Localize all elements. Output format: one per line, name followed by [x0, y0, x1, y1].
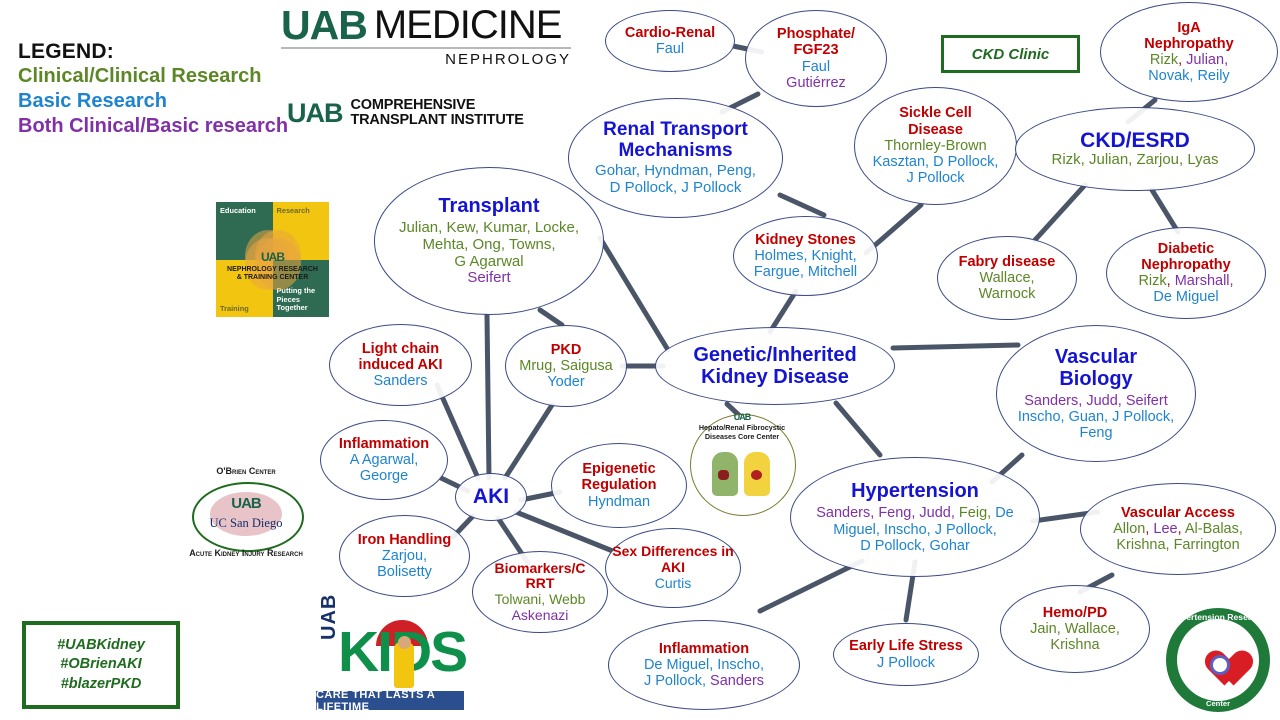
node-title: AKI	[473, 485, 509, 509]
node-names-line2: George	[360, 468, 408, 484]
nrtc-training-label: Training	[220, 304, 249, 313]
node-diabetic-nephropathy[interactable]: Diabetic Nephropathy Rizk, Marshall, De …	[1106, 227, 1266, 319]
node-names-line2: Inscho, Guan, J Pollock,	[1018, 409, 1174, 425]
node-epigenetic-regulation[interactable]: Epigenetic Regulation Hyndman	[551, 443, 687, 528]
node-light-chain-induced-aki[interactable]: Light chain induced AKI Sanders	[329, 324, 472, 406]
girl-head-icon	[398, 636, 411, 649]
node-names-line1: Thornley-Brown	[884, 138, 986, 154]
uab-mark-icon: UAB	[686, 412, 798, 422]
edge-genetic-hypertension	[836, 403, 880, 455]
edge-hypertension-inflammationht	[760, 561, 862, 611]
edge-ckdesrd-diabetic	[1152, 190, 1178, 232]
node-names-line2: Fargue, Mitchell	[754, 264, 857, 280]
node-title-line1: Vascular	[1055, 346, 1137, 368]
node-name-faul: Faul	[802, 59, 830, 75]
nrtc-education-label: Education	[220, 206, 256, 215]
hrfd-arc-text: Hepato/Renal Fibrocystic Diseases Core C…	[686, 423, 798, 441]
uab-mark-icon: UAB	[281, 6, 367, 44]
node-inflammation-aki[interactable]: Inflammation A Agarwal, George	[320, 420, 448, 500]
node-title-line1: Genetic/Inherited	[693, 344, 856, 366]
node-inflammation-hypertension[interactable]: Inflammation De Miguel, Inscho, J Polloc…	[608, 620, 800, 710]
nrtc-research-label: Research	[277, 206, 310, 215]
node-phosphate-fgf23[interactable]: Phosphate/ FGF23 Faul Gutiérrez	[745, 10, 887, 107]
edge-transplant-aki	[487, 315, 489, 478]
liver-icon	[718, 470, 729, 480]
legend-item-clinical: Clinical/Clinical Research	[18, 64, 288, 89]
node-names-line1: Gohar, Hyndman, Peng,	[595, 163, 756, 180]
uab-medicine-wordmark: MEDICINE	[374, 6, 562, 44]
uab-mark-icon: UAB	[261, 250, 284, 264]
obrien-arc-top: O'Brien Center	[186, 466, 306, 476]
node-title-line2: Nephropathy	[1141, 257, 1230, 273]
node-names-line3: Feng	[1079, 425, 1112, 441]
node-pkd[interactable]: PKD Mrug, Saigusa Yoder	[505, 325, 627, 407]
uab-mark-icon: UAB	[186, 495, 306, 512]
node-names-line1: Sanders, Feng, Judd, Feig, De	[816, 505, 1014, 521]
hashtags-box: #UABKidney #OBrienAKI #blazerPKD	[22, 621, 180, 709]
hashtag-uabkidney: #UABKidney	[57, 636, 145, 655]
node-title: Kidney Stones	[755, 232, 856, 248]
node-title-line2: RRT	[526, 576, 555, 592]
node-renal-transport-mechanisms[interactable]: Renal Transport Mechanisms Gohar, Hyndma…	[568, 98, 783, 218]
node-title-line1: IgA	[1177, 20, 1200, 36]
node-names-line2: Miguel, Inscho, J Pollock,	[833, 522, 997, 538]
node-title-line2: AKI	[661, 560, 685, 576]
node-iron-handling[interactable]: Iron Handling Zarjou, Bolisetty	[339, 515, 470, 597]
hepato-renal-fibrocystic-core-center-logo: UAB Hepato/Renal Fibrocystic Diseases Co…	[686, 406, 798, 518]
edge-transplant-pkd	[540, 310, 562, 325]
node-title: Transplant	[438, 195, 539, 217]
node-names-line2: Krishna	[1050, 637, 1099, 653]
node-title-line2: Mechanisms	[618, 140, 732, 161]
node-title: Vascular Access	[1121, 505, 1235, 521]
node-title-line1: Sickle Cell	[899, 105, 972, 121]
node-names-line1: Wallace,	[979, 270, 1034, 286]
node-sickle-cell-disease[interactable]: Sickle Cell Disease Thornley-Brown Kaszt…	[854, 87, 1017, 205]
node-names-line1: Rizk, Marshall,	[1138, 273, 1233, 289]
node-names-line3: G Agarwal	[454, 254, 523, 271]
node-title-line1: Epigenetic	[582, 461, 655, 477]
concept-map-canvas: LEGEND: Clinical/Clinical Research Basic…	[0, 0, 1280, 720]
node-names: Hyndman	[588, 494, 650, 510]
edge-kidneystones-genetic	[770, 291, 796, 332]
node-title-line1: Biomarkers/C	[494, 561, 585, 577]
edge-ckdesrd-fabry	[1035, 185, 1085, 240]
obrien-arc-bottom: Acute Kidney Injury Research	[186, 548, 306, 558]
node-names-line1: Julian, Kew, Kumar, Locke,	[399, 220, 579, 237]
hrc-top-text: Hypertension Research	[1166, 612, 1270, 622]
node-names-line2: Krishna, Farrington	[1116, 537, 1239, 553]
node-title-line2: FGF23	[793, 42, 838, 58]
node-names-line2: Novak, Reily	[1148, 68, 1229, 84]
node-title-line2: Kidney Disease	[701, 366, 849, 388]
ckd-clinic-label: CKD Clinic	[972, 46, 1050, 63]
node-names-line4: Seifert	[467, 270, 510, 287]
node-title: Hemo/PD	[1043, 605, 1107, 621]
node-names-line1: Holmes, Knight,	[754, 248, 856, 264]
node-names-line3: J Pollock	[906, 170, 964, 186]
node-names-line1: A Agarwal,	[350, 452, 419, 468]
node-names-line1: Tolwani, Webb	[495, 592, 586, 608]
uab-transplant-institute-logo: UAB COMPREHENSIVE TRANSPLANT INSTITUTE	[287, 98, 524, 128]
node-names-line1: De Miguel, Inscho,	[644, 657, 764, 673]
node-hemo-pd[interactable]: Hemo/PD Jain, Wallace, Krishna	[1000, 585, 1150, 673]
legend-item-basic: Basic Research	[18, 89, 288, 114]
ucsd-label: UC San Diego	[186, 516, 306, 531]
kids-tagline: CARE THAT LASTS A LIFETIME	[316, 691, 464, 710]
node-title-line1: Phosphate/	[777, 26, 855, 42]
node-sex-differences-in-aki[interactable]: Sex Differences in AKI Curtis	[605, 528, 741, 608]
node-fabry-disease[interactable]: Fabry disease Wallace, Warnock	[937, 236, 1077, 320]
node-cardio-renal[interactable]: Cardio-Renal Faul	[605, 10, 735, 72]
ckd-clinic-box: CKD Clinic	[941, 35, 1080, 73]
node-names-line1: Rizk, Julian,	[1150, 52, 1228, 68]
node-names-line1: Sanders, Judd, Seifert	[1024, 393, 1167, 409]
edge-renaltransport-kidneystones	[780, 195, 824, 215]
legend-item-both: Both Clinical/Basic research	[18, 114, 288, 139]
legend-heading: LEGEND:	[18, 40, 288, 64]
node-title: Cardio-Renal	[625, 25, 715, 41]
node-names-line1: Mrug, Saigusa	[519, 358, 613, 374]
node-names-line2: Warnock	[979, 286, 1036, 302]
node-names-line2: Yoder	[547, 374, 584, 390]
node-genetic-inherited-kidney-disease[interactable]: Genetic/Inherited Kidney Disease	[655, 327, 895, 405]
cti-line2: TRANSPLANT INSTITUTE	[351, 112, 524, 128]
node-title-line1: Light chain	[362, 341, 439, 357]
hashtag-obrienaki: #OBrienAKI	[60, 655, 141, 674]
nrtc-title1: NEPHROLOGY RESEARCH	[227, 266, 318, 273]
kidney-icon	[751, 470, 762, 480]
uab-mark-icon: UAB	[287, 101, 343, 126]
node-title-line2: Regulation	[582, 477, 657, 493]
node-names: Curtis	[655, 576, 692, 592]
node-title: CKD/ESRD	[1080, 129, 1190, 153]
node-title-line1: Renal Transport	[603, 119, 748, 140]
node-vascular-biology[interactable]: Vascular Biology Sanders, Judd, Seifert …	[996, 325, 1196, 462]
node-title: Inflammation	[659, 641, 749, 657]
node-names-line1: Jain, Wallace,	[1030, 621, 1120, 637]
node-title-line2: Nephropathy	[1144, 36, 1233, 52]
stethoscope-icon	[1210, 655, 1230, 675]
node-title-line2: induced AKI	[358, 357, 442, 373]
nrtc-tagline: Putting thePieces Together	[277, 287, 330, 313]
node-names-line2: Askenazi	[512, 608, 569, 624]
node-transplant[interactable]: Transplant Julian, Kew, Kumar, Locke, Me…	[374, 167, 604, 315]
cti-line1: COMPREHENSIVE	[351, 97, 476, 113]
node-kidney-stones[interactable]: Kidney Stones Holmes, Knight, Fargue, Mi…	[733, 216, 878, 296]
node-aki[interactable]: AKI	[455, 473, 527, 521]
uab-vertical-label: UAB	[318, 594, 341, 640]
node-names-line2: J Pollock, Sanders	[644, 673, 764, 689]
node-names-line2: De Miguel	[1153, 289, 1218, 305]
hypertension-research-center-logo: Hypertension Research Center	[1166, 608, 1270, 712]
node-iga-nephropathy[interactable]: IgA Nephropathy Rizk, Julian, Novak, Rei…	[1100, 2, 1278, 102]
node-names-line2: Bolisetty	[377, 564, 432, 580]
node-names-line1: Zarjou,	[382, 548, 427, 564]
node-title-line1: Diabetic	[1158, 241, 1214, 257]
hrc-bottom-text: Center	[1166, 699, 1270, 708]
node-title: Hypertension	[851, 480, 979, 502]
node-biomarkers-crrt[interactable]: Biomarkers/C RRT Tolwani, Webb Askenazi	[472, 551, 608, 633]
edge-genetic-vascular	[893, 345, 1018, 348]
node-title-line2: Disease	[908, 122, 963, 138]
node-title: Early Life Stress	[849, 638, 963, 654]
node-ckd-esrd[interactable]: CKD/ESRD Rizk, Julian, Zarjou, Lyas	[1015, 107, 1255, 191]
node-names: J Pollock	[877, 655, 935, 671]
node-title: Iron Handling	[358, 532, 451, 548]
uab-nephrology-label: NEPHROLOGY	[281, 51, 571, 68]
node-title: PKD	[551, 342, 582, 358]
edge-pkd-aki	[505, 405, 552, 478]
edge-transplant-genetic	[600, 238, 668, 350]
nephrology-research-training-center-logo: Education Research Training Putting theP…	[216, 202, 329, 317]
obrien-center-logo: O'Brien Center UAB UC San Diego Acute Ki…	[186, 464, 306, 568]
node-names-line3: D Pollock, Gohar	[860, 538, 970, 554]
node-title-line1: Sex Differences in	[612, 544, 733, 560]
node-hypertension[interactable]: Hypertension Sanders, Feng, Judd, Feig, …	[790, 457, 1040, 577]
node-title: Inflammation	[339, 436, 429, 452]
node-names-line2: Kasztan, D Pollock,	[873, 154, 999, 170]
node-early-life-stress[interactable]: Early Life Stress J Pollock	[833, 623, 979, 686]
node-names: Faul	[656, 41, 684, 57]
legend: LEGEND: Clinical/Clinical Research Basic…	[18, 40, 288, 138]
node-names-line2: Mehta, Ong, Towns,	[422, 237, 555, 254]
node-names: Sanders	[373, 373, 427, 389]
node-title-line2: Biology	[1059, 368, 1132, 390]
nrtc-title2: & TRAINING CENTER	[237, 274, 309, 281]
node-name-gutierrez: Gutiérrez	[786, 75, 846, 91]
node-vascular-access[interactable]: Vascular Access Allon, Lee, Al-Balas, Kr…	[1080, 483, 1276, 575]
node-names-line1: Allon, Lee, Al-Balas,	[1113, 521, 1243, 537]
node-names: Rizk, Julian, Zarjou, Lyas	[1051, 152, 1218, 169]
node-names-line2: D Pollock, J Pollock	[610, 180, 742, 197]
hashtag-blazerpkd: #blazerPKD	[61, 675, 142, 694]
uab-kids-logo: KIDS UAB CARE THAT LASTS A LIFETIME	[316, 618, 464, 714]
uab-medicine-logo: UAB MEDICINE NEPHROLOGY	[281, 6, 571, 68]
node-title: Fabry disease	[959, 254, 1056, 270]
